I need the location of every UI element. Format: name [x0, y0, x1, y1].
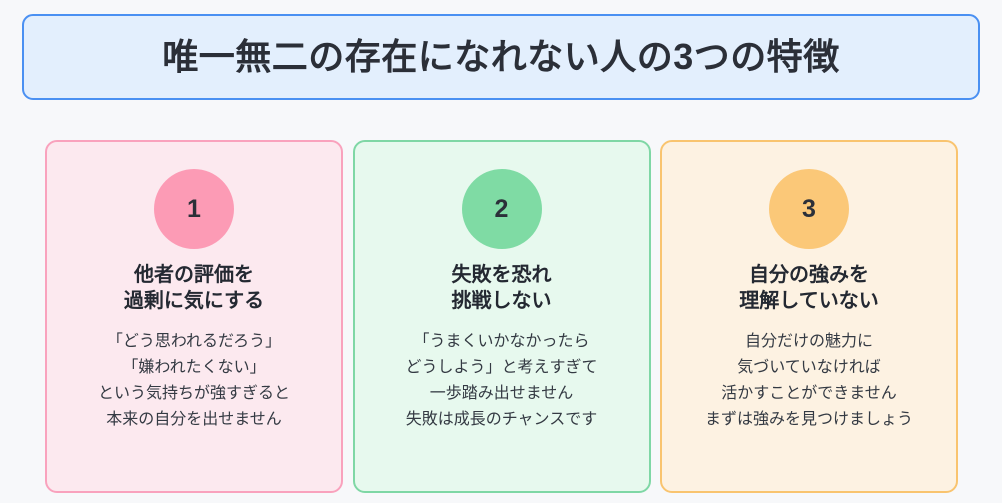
feature-card-1: 1 他者の評価を 過剰に気にする 「どう思われるだろう」 「嫌われたくない」 と… [45, 140, 343, 493]
feature-card-3: 3 自分の強みを 理解していない 自分だけの魅力に 気づいていなければ 活かすこ… [660, 140, 958, 493]
feature-card-2: 2 失敗を恐れ 挑戦しない 「うまくいかなかったら どうしよう」と考えすぎて 一… [353, 140, 651, 493]
header-banner: 唯一無二の存在になれない人の3つの特徴 [22, 14, 980, 100]
page-title: 唯一無二の存在になれない人の3つの特徴 [162, 37, 840, 77]
card-number-badge-2: 2 [462, 169, 542, 249]
card-number-badge-3: 3 [769, 169, 849, 249]
feature-cards-row: 1 他者の評価を 過剰に気にする 「どう思われるだろう」 「嫌われたくない」 と… [45, 140, 958, 493]
card-heading-3: 自分の強みを 理解していない [739, 262, 878, 315]
card-heading-1: 他者の評価を 過剰に気にする [124, 262, 264, 315]
card-number-label: 1 [187, 195, 201, 224]
card-body-2: 「うまくいかなかったら どうしよう」と考えすぎて 一歩踏み出せません 失敗は成長… [405, 329, 597, 433]
card-number-badge-1: 1 [154, 169, 234, 249]
infographic-page: 唯一無二の存在になれない人の3つの特徴 1 他者の評価を 過剰に気にする 「どう… [0, 0, 1002, 503]
card-body-1: 「どう思われるだろう」 「嫌われたくない」 という気持ちが強すぎると 本来の自分… [98, 329, 290, 433]
card-number-label: 3 [802, 195, 816, 224]
card-number-label: 2 [495, 195, 509, 224]
card-body-3: 自分だけの魅力に 気づいていなければ 活かすことができません まずは強みを見つけ… [705, 329, 913, 433]
card-heading-2: 失敗を恐れ 挑戦しない [452, 262, 552, 315]
